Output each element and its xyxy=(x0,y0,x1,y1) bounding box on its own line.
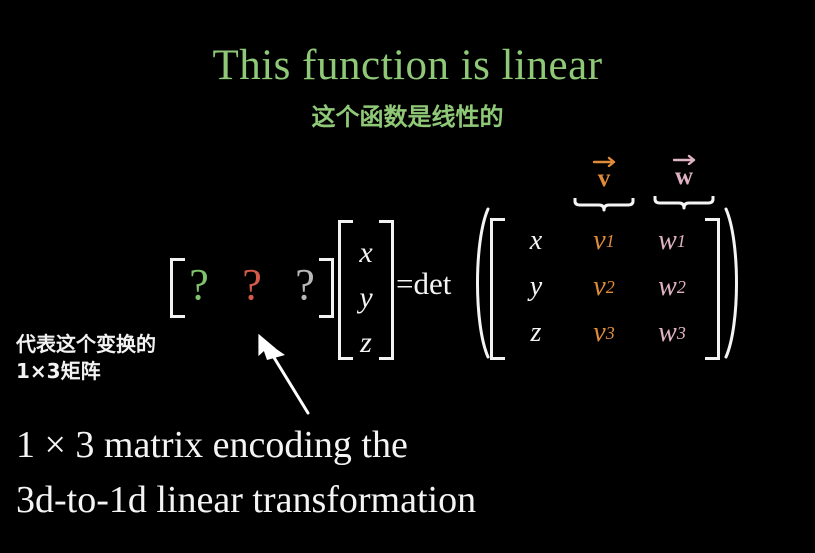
matrix-cell-w3: w3 xyxy=(640,310,704,356)
bracket-left-icon xyxy=(490,218,505,360)
vector-v-label: v xyxy=(572,166,636,192)
matrix-cell-w2: w2 xyxy=(640,264,704,310)
bracket-left-icon xyxy=(170,258,185,318)
matrix-cell-v1-subscript: 1 xyxy=(606,226,615,256)
page-subtitle: 这个函数是线性的 xyxy=(0,103,815,131)
matrix-column-xyz: x y z xyxy=(504,218,568,356)
vector-w-label: w xyxy=(652,164,716,190)
bracket-right-icon xyxy=(319,258,334,318)
vector-arrow-icon xyxy=(572,153,636,167)
matrix-cell-v2-subscript: 2 xyxy=(606,272,615,302)
chinese-annotation: 代表这个变换的 1×3矩阵 xyxy=(16,331,156,385)
page-title: This function is linear xyxy=(0,40,815,92)
animation-canvas: This function is linear 这个函数是线性的 ? ? ? x… xyxy=(0,0,815,553)
underbrace-icon xyxy=(573,198,635,218)
matrix-column-w: w1 w2 w3 xyxy=(640,218,704,356)
vector-arrow-icon xyxy=(652,151,716,165)
matrix-cell-w1-symbol: w xyxy=(658,226,677,256)
row-vector-entry-3: ? xyxy=(290,260,320,310)
matrix-cell-w1: w1 xyxy=(640,218,704,264)
paren-close-icon xyxy=(720,207,746,359)
matrix-cell-x: x xyxy=(504,218,568,264)
determinant-matrix: x y z v1 v2 v3 w1 w2 w3 xyxy=(490,218,720,360)
matrix-cell-w3-symbol: w xyxy=(658,318,677,348)
caption-text: 1 × 3 matrix encoding the 3d-to-1d linea… xyxy=(16,418,716,528)
matrix-cell-w2-symbol: w xyxy=(658,272,677,302)
matrix-cell-v1-symbol: v xyxy=(593,226,605,256)
bracket-right-icon xyxy=(705,218,720,360)
equals-det-operator: =det xyxy=(396,266,451,302)
matrix-cell-v1: v1 xyxy=(572,218,636,264)
matrix-cell-v3-symbol: v xyxy=(593,318,605,348)
column-vector-entry-x: x xyxy=(338,237,394,269)
matrix-cell-w3-subscript: 3 xyxy=(677,318,686,348)
matrix-cell-w2-subscript: 2 xyxy=(677,272,686,302)
matrix-cell-z: z xyxy=(504,310,568,356)
row-vector-entry-1: ? xyxy=(184,260,214,310)
annotation-arrow-icon xyxy=(240,325,360,425)
vector-v-symbol: v xyxy=(598,165,611,192)
matrix-cell-v3: v3 xyxy=(572,310,636,356)
matrix-column-v: v1 v2 v3 xyxy=(572,218,636,356)
column-vector-entry-y: y xyxy=(338,282,394,314)
matrix-cell-w1-subscript: 1 xyxy=(677,226,686,256)
matrix-cell-v2: v2 xyxy=(572,264,636,310)
row-vector-matrix: ? ? ? xyxy=(170,258,334,318)
vector-w-symbol: w xyxy=(675,163,693,190)
underbrace-icon xyxy=(653,196,715,216)
matrix-cell-y: y xyxy=(504,264,568,310)
row-vector-entry-2: ? xyxy=(237,260,267,310)
matrix-cell-v3-subscript: 3 xyxy=(606,318,615,348)
matrix-cell-v2-symbol: v xyxy=(593,272,605,302)
